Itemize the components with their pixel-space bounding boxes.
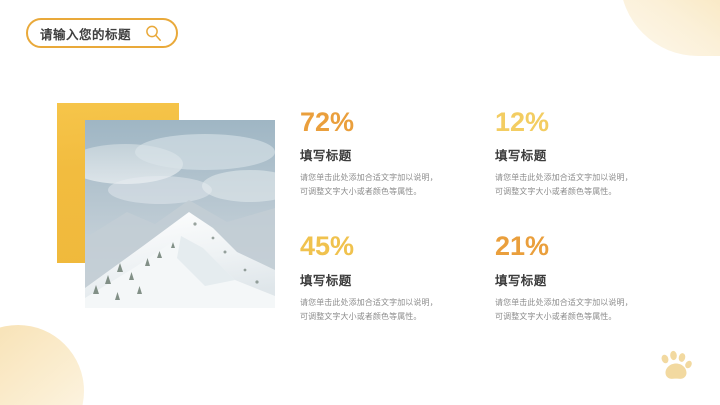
stat-description-line1: 请您单击此处添加合适文字加以说明， [495, 296, 672, 310]
page-title: 请输入您的标题 [40, 24, 131, 43]
stat-heading: 填写标题 [495, 270, 672, 289]
stat-description-line2: 可调整文字大小或者颜色等属性。 [495, 310, 672, 324]
stat-heading: 填写标题 [300, 145, 477, 164]
stat-description-line1: 请您单击此处添加合适文字加以说明， [300, 296, 477, 310]
stat-percent: 72% [300, 108, 477, 136]
stat-card-1[interactable]: 72% 填写标题 请您单击此处添加合适文字加以说明， 可调整文字大小或者颜色等属… [300, 108, 495, 199]
stat-description-line2: 可调整文字大小或者颜色等属性。 [300, 310, 477, 324]
stats-row-1: 72% 填写标题 请您单击此处添加合适文字加以说明， 可调整文字大小或者颜色等属… [300, 108, 690, 199]
stat-description-line1: 请您单击此处添加合适文字加以说明， [300, 171, 477, 185]
title-pill[interactable]: 请输入您的标题 [26, 18, 178, 48]
stat-description-line1: 请您单击此处添加合适文字加以说明， [495, 171, 672, 185]
stat-heading: 填写标题 [300, 270, 477, 289]
photo-mountain [85, 120, 275, 308]
stat-description-line2: 可调整文字大小或者颜色等属性。 [495, 185, 672, 199]
slide-canvas: 请输入您的标题 [0, 0, 720, 405]
decor-blob-top-right [620, 0, 720, 56]
stats-grid: 72% 填写标题 请您单击此处添加合适文字加以说明， 可调整文字大小或者颜色等属… [300, 108, 690, 324]
search-icon[interactable] [145, 25, 162, 42]
stat-percent: 21% [495, 232, 672, 260]
stat-percent: 45% [300, 232, 477, 260]
stat-card-3[interactable]: 45% 填写标题 请您单击此处添加合适文字加以说明， 可调整文字大小或者颜色等属… [300, 232, 495, 323]
decor-blob-bottom-left [0, 325, 84, 405]
row-spacer [300, 199, 690, 232]
stats-row-2: 45% 填写标题 请您单击此处添加合适文字加以说明， 可调整文字大小或者颜色等属… [300, 232, 690, 323]
stat-card-4[interactable]: 21% 填写标题 请您单击此处添加合适文字加以说明， 可调整文字大小或者颜色等属… [495, 232, 690, 323]
stat-heading: 填写标题 [495, 145, 672, 164]
paw-print-icon [656, 349, 694, 383]
stat-description-line2: 可调整文字大小或者颜色等属性。 [300, 185, 477, 199]
stat-card-2[interactable]: 12% 填写标题 请您单击此处添加合适文字加以说明， 可调整文字大小或者颜色等属… [495, 108, 690, 199]
stat-percent: 12% [495, 108, 672, 136]
